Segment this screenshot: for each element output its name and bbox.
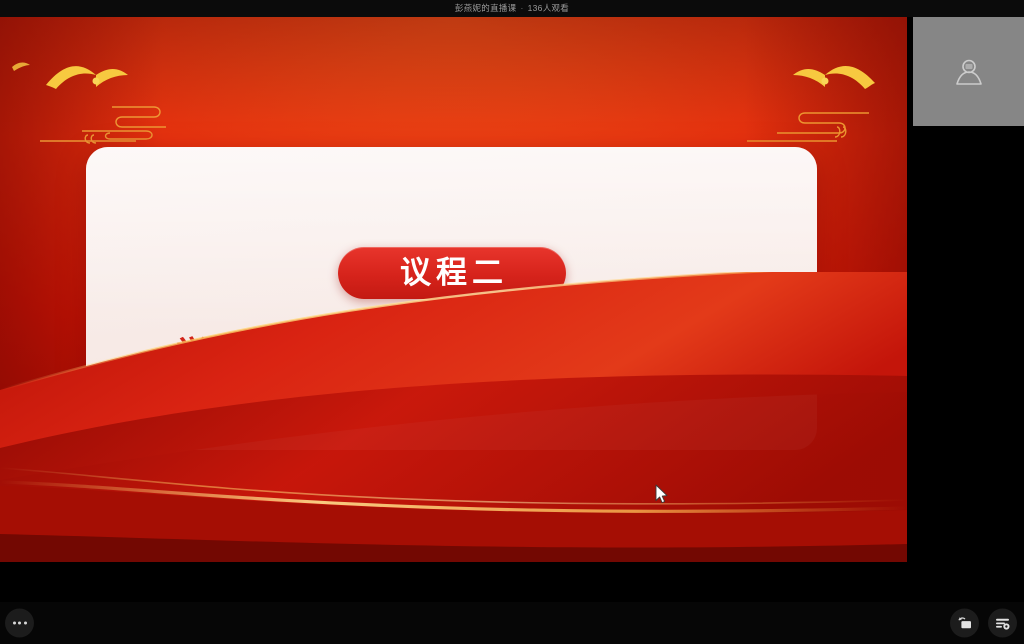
more-dots-icon — [13, 622, 27, 625]
screen-share-icon — [957, 616, 973, 630]
self-view-tile[interactable] — [913, 17, 1024, 126]
live-class-window: 彭燕妮的直播课·136人观看 — [0, 0, 1024, 644]
video-stage: 议程二 学院党委书记何希平同志致开幕词 — [0, 17, 1024, 602]
settings-list-button[interactable] — [988, 609, 1017, 638]
window-title-bar: 彭燕妮的直播课·136人观看 — [0, 0, 1024, 17]
shared-screen-slide[interactable]: 议程二 学院党委书记何希平同志致开幕词 — [0, 17, 907, 562]
agenda-badge-label: 议程二 — [395, 258, 508, 289]
more-options-button[interactable] — [5, 609, 34, 638]
screen-share-button[interactable] — [950, 609, 979, 638]
window-title-text: 彭燕妮的直播课 — [455, 3, 517, 13]
person-avatar-icon — [954, 58, 984, 86]
slide-content-card: 议程二 学院党委书记何希平同志致开幕词 — [86, 147, 817, 450]
viewer-count: 136人观看 — [528, 3, 569, 13]
slide-heading: 学院党委书记何希平同志致开幕词 — [86, 339, 817, 374]
title-separator: · — [520, 4, 523, 13]
card-sheen — [86, 147, 817, 329]
agenda-badge: 议程二 — [338, 247, 566, 299]
bottom-control-bar — [0, 602, 1024, 644]
window-title: 彭燕妮的直播课·136人观看 — [455, 4, 569, 13]
settings-list-icon — [995, 616, 1011, 630]
